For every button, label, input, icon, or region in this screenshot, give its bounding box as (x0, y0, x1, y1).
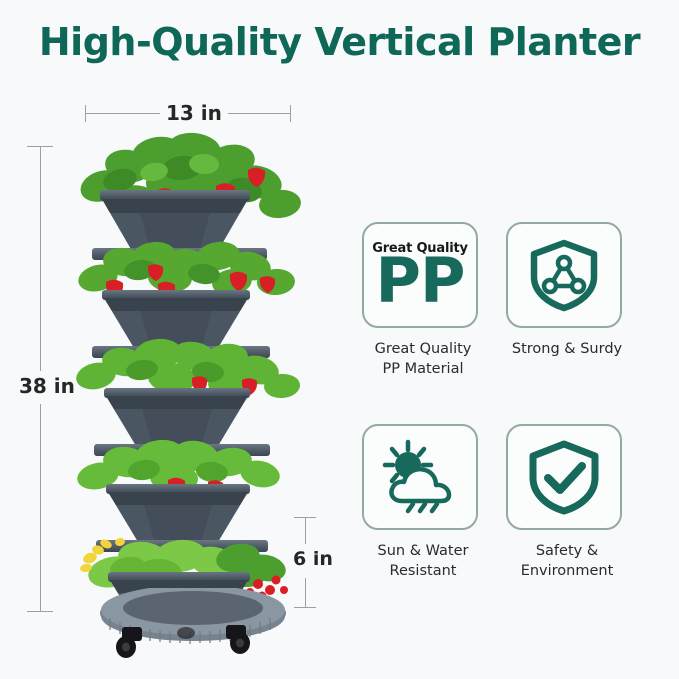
pp-badge-large-text: PP (376, 252, 465, 309)
shield-molecule-icon (506, 222, 622, 328)
shield-check-icon (506, 424, 622, 530)
feature-caption-line1: Safety & (506, 541, 628, 561)
shield-check-glyph (526, 439, 602, 515)
feature-caption-line2: Environment (506, 561, 628, 581)
feature-caption-line2: Resistant (362, 561, 484, 581)
feature-caption-line1: Sun & Water (362, 541, 484, 561)
caster-wheels-icon (100, 625, 300, 665)
dimension-height-line-upper (40, 146, 41, 371)
dimension-height-line-lower (40, 404, 41, 612)
feature-grid: Great Quality PP Great Quality PP Materi… (362, 222, 632, 602)
feature-card-strong-sturdy[interactable]: Strong & Surdy (506, 222, 628, 359)
infographic-canvas: High-Quality Vertical Planter 13 in 38 i… (0, 0, 679, 679)
page-title: High-Quality Vertical Planter (0, 20, 679, 64)
dimension-height-tick-top (27, 146, 53, 147)
feature-caption: Strong & Surdy (506, 339, 628, 359)
dimension-height-tick-bottom (27, 611, 53, 612)
feature-caption: Safety & Environment (506, 541, 628, 581)
feature-caption: Great Quality PP Material (362, 339, 484, 379)
feature-caption-line1: Great Quality (362, 339, 484, 359)
sun-cloud-rain-glyph (380, 439, 460, 515)
feature-caption-line2: PP Material (362, 359, 484, 379)
feature-card-safety-environment[interactable]: Safety & Environment (506, 424, 628, 581)
feature-card-sun-water-resistant[interactable]: Sun & Water Resistant (362, 424, 484, 581)
pp-material-icon: Great Quality PP (362, 222, 478, 328)
sun-cloud-rain-icon (362, 424, 478, 530)
feature-caption: Sun & Water Resistant (362, 541, 484, 581)
product-image (62, 120, 332, 630)
shield-molecule-glyph (526, 237, 602, 313)
feature-card-pp-material[interactable]: Great Quality PP Great Quality PP Materi… (362, 222, 484, 379)
feature-caption-line1: Strong & Surdy (506, 339, 628, 359)
